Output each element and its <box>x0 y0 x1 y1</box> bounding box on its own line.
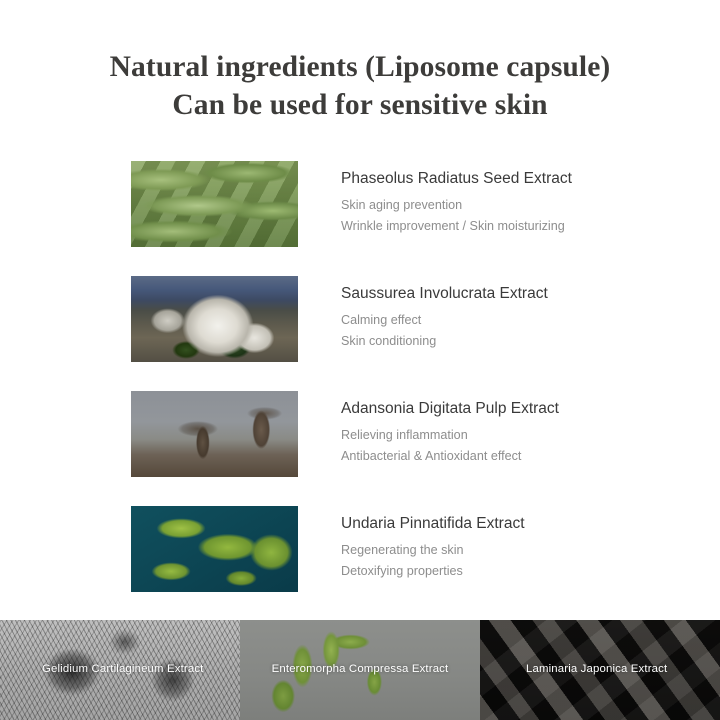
ingredient-thumbnail <box>131 276 298 362</box>
bottom-panel: Enteromorpha Compressa Extract <box>240 620 480 720</box>
title-line-1: Natural ingredients (Liposome capsule) <box>0 48 720 86</box>
ingredient-benefit: Regenerating the skin <box>341 540 671 561</box>
snow-lotus-flower-photo <box>131 276 298 362</box>
ingredient-benefit: Detoxifying properties <box>341 561 671 582</box>
ingredient-row: Adansonia Digitata Pulp Extract Relievin… <box>0 391 720 506</box>
ingredient-name: Phaseolus Radiatus Seed Extract <box>341 169 671 188</box>
undaria-seaweed-photo <box>131 506 298 592</box>
ingredient-text-block: Saussurea Involucrata Extract Calming ef… <box>341 284 671 352</box>
ingredient-row: Undaria Pinnatifida Extract Regenerating… <box>0 506 720 621</box>
ingredient-text-block: Adansonia Digitata Pulp Extract Relievin… <box>341 399 671 467</box>
panel-caption: Laminaria Japonica Extract <box>480 662 720 677</box>
panel-caption: Gelidium Cartilagineum Extract <box>0 662 240 677</box>
ingredient-list: Phaseolus Radiatus Seed Extract Skin agi… <box>0 161 720 621</box>
ingredient-benefit: Relieving inflammation <box>341 425 671 446</box>
bottom-image-strip: Gelidium Cartilagineum Extract Enteromor… <box>0 620 720 720</box>
ingredient-row: Saussurea Involucrata Extract Calming ef… <box>0 276 720 391</box>
ingredient-name: Undaria Pinnatifida Extract <box>341 514 671 533</box>
baobab-trees-photo <box>131 391 298 477</box>
ingredient-thumbnail <box>131 506 298 592</box>
ingredient-benefit: Wrinkle improvement / Skin moisturizing <box>341 216 671 237</box>
ingredient-row: Phaseolus Radiatus Seed Extract Skin agi… <box>0 161 720 276</box>
bottom-panel: Gelidium Cartilagineum Extract <box>0 620 240 720</box>
ingredient-name: Adansonia Digitata Pulp Extract <box>341 399 671 418</box>
title-line-2: Can be used for sensitive skin <box>0 86 720 124</box>
page-title: Natural ingredients (Liposome capsule) C… <box>0 48 720 124</box>
panel-caption: Enteromorpha Compressa Extract <box>240 662 480 677</box>
ingredient-thumbnail <box>131 391 298 477</box>
bottom-panel: Laminaria Japonica Extract <box>480 620 720 720</box>
ingredient-text-block: Undaria Pinnatifida Extract Regenerating… <box>341 514 671 582</box>
ingredient-benefit: Calming effect <box>341 310 671 331</box>
ingredient-name: Saussurea Involucrata Extract <box>341 284 671 303</box>
ingredient-benefit: Skin aging prevention <box>341 195 671 216</box>
ingredient-benefit: Antibacterial & Antioxidant effect <box>341 446 671 467</box>
ingredient-benefit: Skin conditioning <box>341 331 671 352</box>
green-bean-pods-photo <box>131 161 298 247</box>
ingredient-text-block: Phaseolus Radiatus Seed Extract Skin agi… <box>341 169 671 237</box>
ingredient-thumbnail <box>131 161 298 247</box>
